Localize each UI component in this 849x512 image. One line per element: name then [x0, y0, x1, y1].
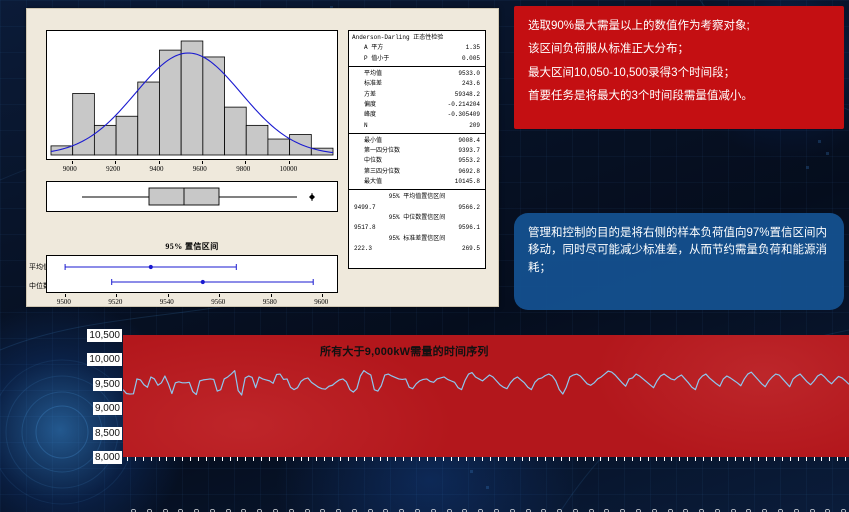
- x-axis-tick: [506, 457, 507, 461]
- x-axis-tick: [640, 457, 641, 461]
- x-axis-tick: [577, 457, 578, 461]
- stat-ci-title: 95% 中位数置信区间: [349, 213, 485, 223]
- histogram-chart: [46, 30, 338, 160]
- x-axis-tick: [419, 457, 420, 461]
- x-axis-tick: [308, 457, 309, 461]
- x-axis-tick: [411, 457, 412, 461]
- boxplot-chart: [46, 181, 338, 212]
- x-axis-tick: [750, 457, 751, 461]
- axis-tick: [159, 161, 160, 164]
- axis-tick-label: 9500: [57, 298, 71, 306]
- stat-row-quantile: 第三四分位数9692.8: [349, 167, 485, 177]
- stat-row-moment: 平均值9533.0: [349, 69, 485, 79]
- stat-row-moment: 偏度-0.214204: [349, 100, 485, 110]
- x-axis-tick: [293, 457, 294, 461]
- x-axis-tick: [703, 457, 704, 461]
- x-axis-tick: [135, 457, 136, 461]
- x-axis-tick: [814, 457, 815, 461]
- ci-label-median: 中位数: [29, 281, 43, 291]
- x-axis-tick: [372, 457, 373, 461]
- x-axis-tick: [695, 457, 696, 461]
- axis-tick-label: 9520: [108, 298, 122, 306]
- x-axis-tick: [743, 457, 744, 461]
- x-axis-tick: [522, 457, 523, 461]
- x-axis-tick: [632, 457, 633, 461]
- stat-ci-values: 9499.79566.2: [349, 203, 485, 213]
- y-axis-label: 9,500: [93, 378, 122, 391]
- x-axis-tick: [245, 457, 246, 461]
- x-axis-tick: [514, 457, 515, 461]
- x-axis-tick: [198, 457, 199, 461]
- x-axis-tick: [608, 457, 609, 461]
- x-axis-tick: [585, 457, 586, 461]
- x-axis-tick: [190, 457, 191, 461]
- y-axis-label: 10,000: [87, 353, 122, 366]
- x-axis-tick: [821, 457, 822, 461]
- x-axis-tick: [166, 457, 167, 461]
- stat-ci-title: 95% 标准差置信区间: [349, 234, 485, 244]
- x-axis-tick: [711, 457, 712, 461]
- x-axis-tick: [569, 457, 570, 461]
- stat-ci-values: 222.3269.5: [349, 244, 485, 254]
- confidence-interval-chart: [46, 255, 338, 293]
- blue-objective-card: 管理和控制的目的是将右侧的样本负荷值向97%置信区间内移动，同时尽可能减少标准差…: [514, 213, 844, 310]
- x-axis-tick: [656, 457, 657, 461]
- timeseries-x-axis: 02 00:0003 02:0005 02:0005 06:0006 02:00…: [123, 457, 849, 512]
- x-axis-tick: [332, 457, 333, 461]
- x-axis-tick: [782, 457, 783, 461]
- x-axis-tick: [719, 457, 720, 461]
- x-axis-tick: [403, 457, 404, 461]
- x-axis-tick: [806, 457, 807, 461]
- x-axis-tick: [679, 457, 680, 461]
- axis-tick-label: 9000: [63, 165, 77, 173]
- moments-section: 平均值9533.0标准差243.6方差59348.2偏度-0.214204峰度-…: [349, 67, 485, 134]
- x-axis-tick: [301, 457, 302, 461]
- statistics-table: Anderson-Darling 正态性检验 A 平方1.35P 值小于0.00…: [348, 30, 486, 269]
- x-axis-tick: [324, 457, 325, 461]
- red-card-line: 最大区间10,050-10,500录得3个时间段；: [528, 65, 830, 81]
- x-axis-tick: [182, 457, 183, 461]
- blue-card-text: 管理和控制的目的是将右侧的样本负荷值向97%置信区间内移动，同时尽可能减少标准差…: [528, 225, 830, 277]
- axis-tick-label: 9400: [150, 165, 164, 173]
- axis-tick: [115, 161, 116, 164]
- x-axis-tick: [600, 457, 601, 461]
- axis-tick-label: 9800: [236, 165, 250, 173]
- x-axis-tick: [648, 457, 649, 461]
- x-axis-tick: [829, 457, 830, 461]
- x-axis-tick: [498, 457, 499, 461]
- x-axis-tick: [798, 457, 799, 461]
- x-axis-tick: [253, 457, 254, 461]
- confidence-intervals-section: 95% 平均值置信区间9499.79566.295% 中位数置信区间9517.8…: [349, 190, 485, 256]
- stat-row-quantile: 第一四分位数9393.7: [349, 146, 485, 156]
- x-axis-tick: [790, 457, 791, 461]
- axis-tick: [168, 294, 169, 297]
- x-axis-tick: [230, 457, 231, 461]
- axis-tick-label: 9580: [263, 298, 277, 306]
- x-axis-tick: [727, 457, 728, 461]
- x-axis-tick: [845, 457, 846, 461]
- x-axis-tick: [443, 457, 444, 461]
- axis-tick: [322, 294, 323, 297]
- axis-tick: [202, 161, 203, 164]
- x-axis-tick: [490, 457, 491, 461]
- x-axis-tick: [387, 457, 388, 461]
- axis-tick: [271, 294, 272, 297]
- x-axis-tick: [466, 457, 467, 461]
- confidence-interval-title: 95% 置信区间: [46, 241, 338, 252]
- stat-row-moment: 方差59348.2: [349, 90, 485, 100]
- stat-row-moment: 峰度-0.305409: [349, 110, 485, 120]
- y-axis-label: 9,000: [93, 402, 122, 415]
- x-axis-tick: [174, 457, 175, 461]
- timeseries-y-axis: 10,50010,0009,5009,0008,5008,000: [60, 330, 122, 462]
- x-axis-tick: [261, 457, 262, 461]
- x-axis-tick: [687, 457, 688, 461]
- quantiles-section: 最小值9008.4第一四分位数9393.7中位数9553.2第三四分位数9692…: [349, 134, 485, 191]
- red-card-line: 该区间负荷服从标准正大分布；: [528, 41, 830, 57]
- x-axis-tick: [616, 457, 617, 461]
- axis-tick-label: 9540: [160, 298, 174, 306]
- x-axis-tick: [435, 457, 436, 461]
- stat-row-moment: 标准差243.6: [349, 79, 485, 89]
- red-summary-card: 选取90%最大需量以上的数值作为考察对象;该区间负荷服从标准正大分布；最大区间1…: [514, 6, 844, 129]
- x-axis-tick: [395, 457, 396, 461]
- stat-ci-values: 9517.89596.1: [349, 223, 485, 233]
- axis-tick-label: 9600: [314, 298, 328, 306]
- stat-row-moment: N209: [349, 121, 485, 131]
- axis-tick-label: 9600: [193, 165, 207, 173]
- minitab-graphical-summary-panel: 9000920094009600980010000 95% 置信区间 平均值 中…: [26, 8, 499, 307]
- x-axis-tick: [458, 457, 459, 461]
- anderson-darling-header: Anderson-Darling 正态性检验: [349, 33, 485, 43]
- x-axis-tick: [159, 457, 160, 461]
- x-axis-tick: [474, 457, 475, 461]
- y-axis-label: 10,500: [87, 329, 122, 342]
- x-axis-tick: [758, 457, 759, 461]
- stat-row-quantile: 中位数9553.2: [349, 156, 485, 166]
- x-axis-tick: [529, 457, 530, 461]
- stat-ci-title: 95% 平均值置信区间: [349, 192, 485, 202]
- histogram-x-axis: 9000920094009600980010000: [46, 161, 338, 173]
- x-axis-tick: [624, 457, 625, 461]
- x-axis-tick: [671, 457, 672, 461]
- stat-row-quantile: 最小值9008.4: [349, 136, 485, 146]
- histogram-svg: [47, 31, 337, 159]
- x-axis-tick: [537, 457, 538, 461]
- x-axis-tick: [553, 457, 554, 461]
- x-axis-tick: [482, 457, 483, 461]
- ci-x-axis: 950095209540956095809600: [46, 294, 338, 306]
- axis-tick-label: 9560: [211, 298, 225, 306]
- axis-tick: [116, 294, 117, 297]
- axis-tick: [245, 161, 246, 164]
- x-axis-tick: [127, 457, 128, 461]
- x-axis-tick: [664, 457, 665, 461]
- x-axis-tick: [356, 457, 357, 461]
- axis-tick: [65, 294, 66, 297]
- axis-tick-label: 9200: [106, 165, 120, 173]
- y-axis-label: 8,500: [93, 427, 122, 440]
- x-axis-tick: [143, 457, 144, 461]
- x-axis-tick: [348, 457, 349, 461]
- x-axis-tick: [593, 457, 594, 461]
- x-axis-tick: [561, 457, 562, 461]
- x-axis-tick: [214, 457, 215, 461]
- stat-row-ad: A 平方1.35: [349, 43, 485, 53]
- x-axis-tick: [766, 457, 767, 461]
- x-axis-tick: [340, 457, 341, 461]
- x-axis-tick: [316, 457, 317, 461]
- timeseries-title: 所有大于9,000kW需量的时间序列: [320, 343, 489, 359]
- x-axis-tick: [545, 457, 546, 461]
- red-card-line: 选取90%最大需量以上的数值作为考察对象;: [528, 18, 830, 34]
- stat-row-quantile: 最大值10145.8: [349, 177, 485, 187]
- x-axis-tick: [774, 457, 775, 461]
- x-axis-tick: [837, 457, 838, 461]
- x-axis-tick: [222, 457, 223, 461]
- stat-row-ad: P 值小于0.005: [349, 54, 485, 64]
- x-axis-tick: [269, 457, 270, 461]
- x-axis-tick: [277, 457, 278, 461]
- ci-label-mean: 平均值: [29, 262, 43, 272]
- x-axis-tick: [427, 457, 428, 461]
- y-axis-label: 8,000: [93, 451, 122, 464]
- x-axis-tick: [206, 457, 207, 461]
- anderson-darling-section: Anderson-Darling 正态性检验 A 平方1.35P 值小于0.00…: [349, 31, 485, 67]
- axis-tick: [289, 161, 290, 164]
- red-card-line: 首要任务是将最大的3个时间段需量值减小。: [528, 88, 830, 104]
- x-axis-tick: [151, 457, 152, 461]
- x-axis-tick: [237, 457, 238, 461]
- x-axis-tick: [380, 457, 381, 461]
- x-axis-tick: [451, 457, 452, 461]
- x-axis-tick: [735, 457, 736, 461]
- axis-tick: [219, 294, 220, 297]
- axis-tick: [72, 161, 73, 164]
- x-axis-tick: [364, 457, 365, 461]
- axis-tick-label: 10000: [280, 165, 298, 173]
- x-axis-tick: [285, 457, 286, 461]
- ci-svg: [47, 256, 337, 292]
- boxplot-svg: [47, 182, 337, 211]
